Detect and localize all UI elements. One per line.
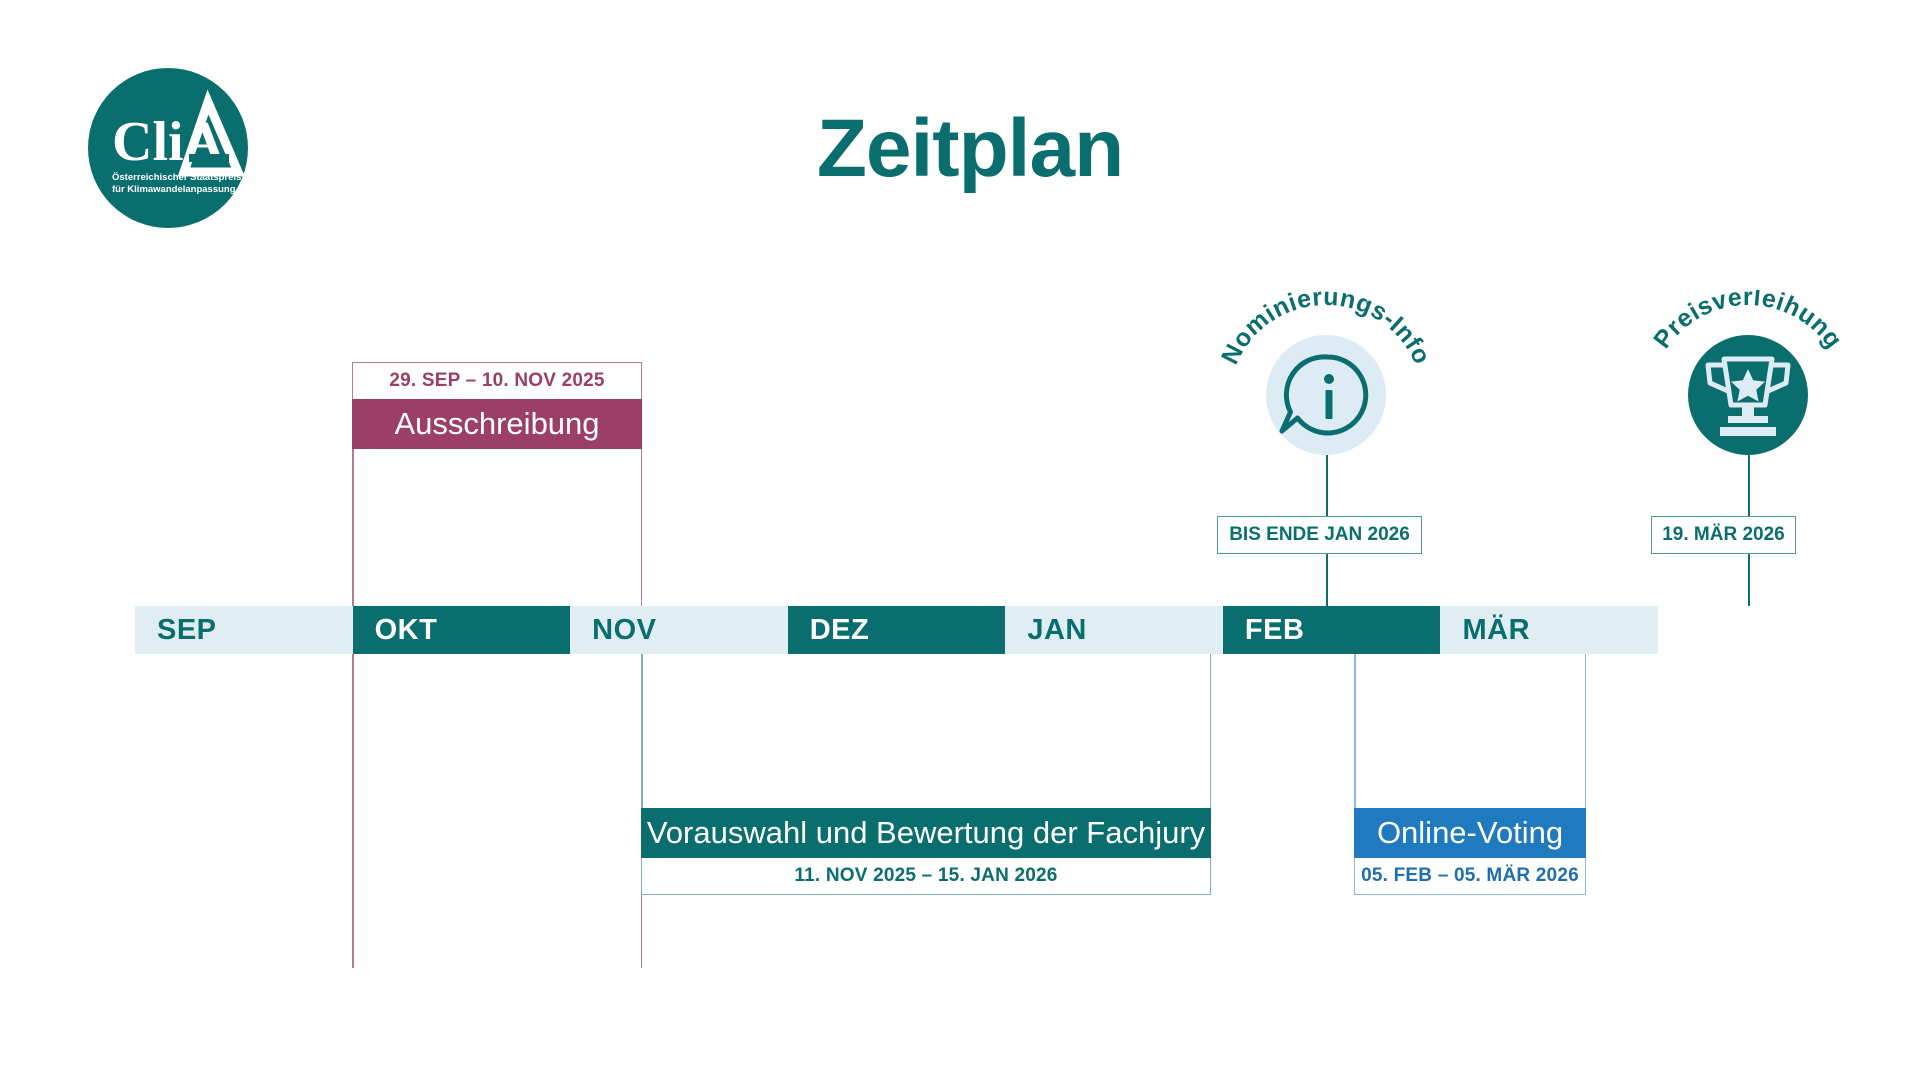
info-speech-bubble-icon [1266, 335, 1386, 455]
page-title-wrap: Zeitplan [780, 108, 1160, 190]
logo-a-crossbar [189, 154, 229, 162]
axis-month-feb: FEB [1223, 606, 1441, 654]
task-block-online-voting: Online-Voting 05. FEB – 05. MÄR 2026 [1354, 808, 1586, 895]
task-date-vorauswahl: 11. NOV 2025 – 15. JAN 2026 [641, 858, 1211, 895]
timeline-canvas: CliA Österreichischer Staatspreis für Kl… [0, 0, 1920, 1080]
clia-logo: CliA Österreichischer Staatspreis für Kl… [88, 68, 248, 228]
axis-month-sep: SEP [135, 606, 353, 654]
connector-line-right [1585, 654, 1587, 808]
logo-wordmark: CliA Österreichischer Staatspreis für Kl… [88, 68, 248, 228]
trophy-icon [1688, 335, 1808, 455]
connector-line-left [352, 449, 354, 968]
logo-wordmark-text: CliA [112, 111, 225, 173]
axis-month-okt: OKT [353, 606, 571, 654]
axis-month-jan: JAN [1005, 606, 1223, 654]
connector-nominierung-bottom [1326, 554, 1328, 606]
task-label-online-voting: Online-Voting [1354, 808, 1586, 858]
page-title: Zeitplan [780, 108, 1160, 190]
axis-month-maer: MÄR [1440, 606, 1658, 654]
badge-date-preisverleihung: 19. MÄR 2026 [1651, 516, 1796, 554]
connector-nominierung-top [1326, 455, 1328, 516]
connector-line-right [1210, 654, 1212, 808]
axis-month-nov: NOV [570, 606, 788, 654]
connector-preisverleihung-top [1748, 455, 1750, 516]
task-label-vorauswahl: Vorauswahl und Bewertung der Fachjury [641, 808, 1211, 858]
connector-preisverleihung-bottom [1748, 554, 1750, 606]
badge-date-nominierung: BIS ENDE JAN 2026 [1217, 516, 1422, 554]
task-block-vorauswahl: Vorauswahl und Bewertung der Fachjury 11… [641, 808, 1211, 895]
axis-month-dez: DEZ [788, 606, 1006, 654]
logo-subtitle-line2: für Klimawandelanpassung [112, 184, 236, 195]
task-label-ausschreibung: Ausschreibung [352, 399, 642, 449]
connector-line-left [641, 654, 643, 808]
task-date-ausschreibung: 29. SEP – 10. NOV 2025 [352, 362, 642, 399]
connector-line-left [1354, 654, 1356, 808]
logo-subtitle-line1: Österreichischer Staatspreis [112, 172, 241, 183]
task-date-online-voting: 05. FEB – 05. MÄR 2026 [1354, 858, 1586, 895]
task-block-ausschreibung: 29. SEP – 10. NOV 2025 Ausschreibung [352, 362, 642, 449]
month-axis: SEP OKT NOV DEZ JAN FEB MÄR [135, 606, 1658, 654]
